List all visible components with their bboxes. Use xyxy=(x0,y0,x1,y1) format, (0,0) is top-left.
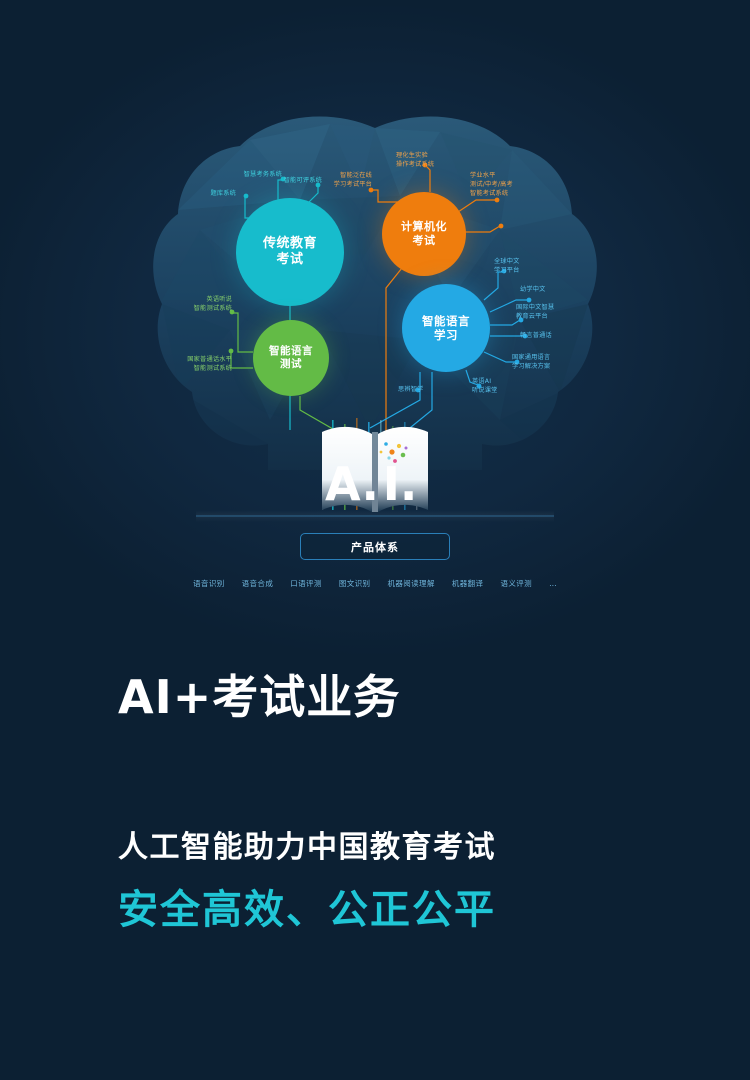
bubble-traditional-education-exam[interactable]: 传统教育 考试 xyxy=(236,198,344,306)
leaf-label-tiku: 题库系统 xyxy=(178,190,236,199)
page-title: AI+考试业务 xyxy=(118,672,678,723)
capability-tag[interactable]: 语义评测 xyxy=(500,578,532,589)
capability-tag[interactable]: 机器阅读理解 xyxy=(387,578,434,589)
leaf-label-national-language-solution: 国家通用语言 学习解决方案 xyxy=(512,354,576,372)
leaf-label-global-chinese-platform: 全球中文 学习平台 xyxy=(494,258,552,276)
capability-tag[interactable]: 语音识别 xyxy=(193,578,225,589)
leaf-label-lab-operation-exam: 理化生实验 操作考试系统 xyxy=(396,152,460,170)
capability-tag-list: 语音识别 语音合成 口语评测 图文识别 机器阅读理解 机器翻译 语义评测 … xyxy=(0,578,750,589)
bubble-label-line2: 考试 xyxy=(276,252,303,268)
leaf-label-changyan-putonghua: 畅言普通话 xyxy=(520,332,578,341)
bubble-label-line2: 考试 xyxy=(413,234,436,248)
bubble-label-line1: 计算机化 xyxy=(401,220,447,234)
subtitle-primary: 人工智能助力中国教育考试 xyxy=(118,822,496,866)
leaf-label-academic-level-exam: 学业水平 测试/中考/高考 智能考试系统 xyxy=(470,172,540,199)
capability-tag[interactable]: 语音合成 xyxy=(242,578,274,589)
bubble-label-line1: 智能语言 xyxy=(422,314,470,328)
capability-tag[interactable]: 机器翻译 xyxy=(452,578,484,589)
subtitle-accent: 安全高效、公正公平 xyxy=(118,877,496,935)
ai-book-emblem: A. I. xyxy=(322,427,428,512)
product-system-label: 产品体系 xyxy=(351,539,399,555)
bubble-label-line2: 学习 xyxy=(434,328,458,342)
hero-graphic: A. I. 传统教育 考试 xyxy=(0,0,750,620)
bubble-smart-language-learning[interactable]: 智能语言 学习 xyxy=(402,284,490,372)
copy-block: AI+考试业务 人工智能助力中国教育考试 安全高效、公正公平 xyxy=(118,672,678,723)
leaf-label-putonghua-test: 国家普通话水平 智能测试系统 xyxy=(168,356,232,374)
bubble-label-line2: 测试 xyxy=(280,358,302,371)
leaf-label-critical-thinking: 思辨智学 xyxy=(398,386,448,395)
capability-tag[interactable]: 图文识别 xyxy=(339,578,371,589)
leaf-label-english-ai-classroom: 英语AI 听说课堂 xyxy=(472,378,524,396)
poster-root: A. I. 传统教育 考试 xyxy=(0,0,750,1080)
leaf-label-intl-chinese-cloud: 国际中文智慧 教育云平台 xyxy=(516,304,578,322)
svg-text:I.: I. xyxy=(383,457,418,511)
svg-text:A.: A. xyxy=(325,457,379,511)
bubble-label-line1: 智能语言 xyxy=(269,345,313,358)
product-system-button[interactable]: 产品体系 xyxy=(300,533,450,560)
bubble-computerized-exam[interactable]: 计算机化 考试 xyxy=(382,192,466,276)
leaf-label-kids-chinese: 幼学中文 xyxy=(520,286,570,295)
capability-tag[interactable]: 口语评测 xyxy=(290,578,322,589)
bubble-smart-language-testing[interactable]: 智能语言 测试 xyxy=(253,320,329,396)
leaf-label-ubiquitous-platform: 智能泛在线 学习考试平台 xyxy=(312,172,372,190)
brain-tree-illustration: A. I. xyxy=(0,0,750,620)
capability-tag: … xyxy=(549,579,557,588)
bubble-label-line1: 传统教育 xyxy=(263,236,317,252)
leaf-label-english-listening-test: 英语听说 智能测试系统 xyxy=(174,296,232,314)
